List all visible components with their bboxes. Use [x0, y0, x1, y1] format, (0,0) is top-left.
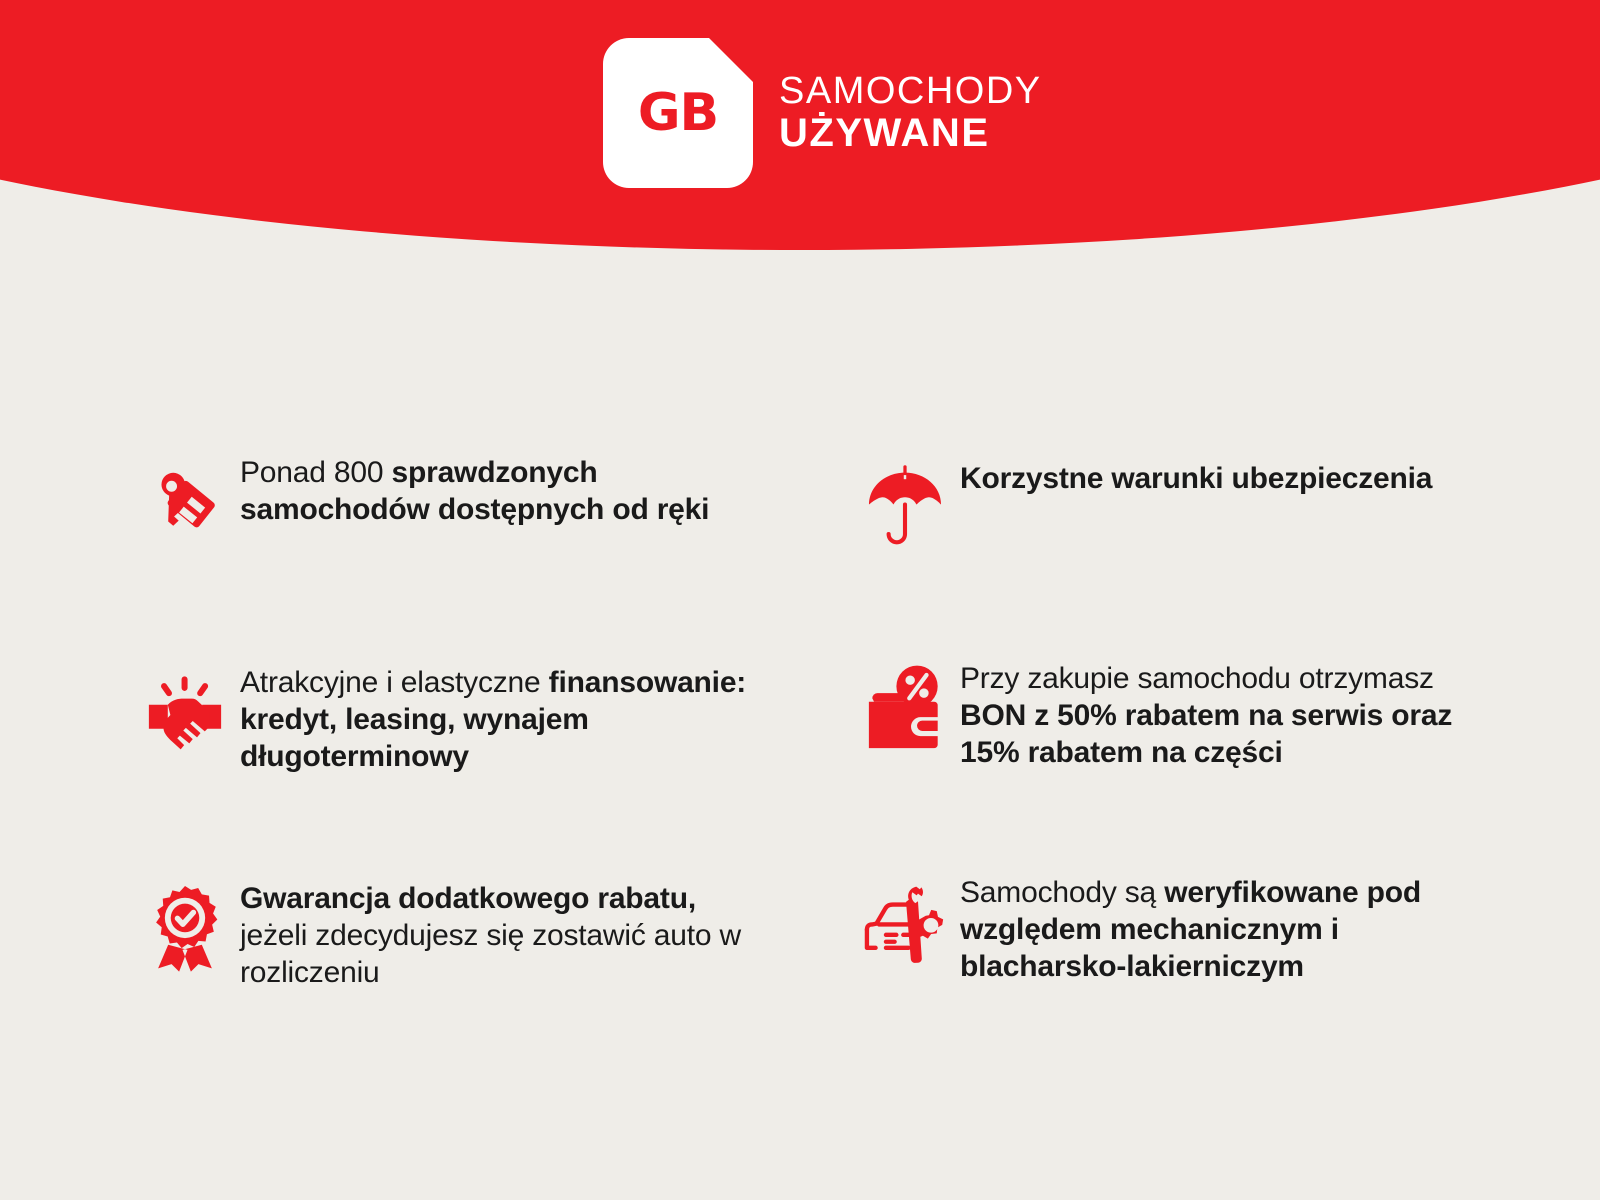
award-badge-icon — [130, 878, 240, 974]
feature-text-regular: Przy zakupie samochodu otrzymasz — [960, 662, 1434, 695]
feature-text-regular: jeżeli zdecydujesz się zostawić auto w r… — [240, 919, 741, 989]
feature-text-bold: Korzystne warunki ubezpieczenia — [960, 462, 1432, 495]
feature-text-regular: Ponad 800 — [240, 456, 391, 489]
feature-item-voucher: Przy zakupie samochodu otrzymasz BON z 5… — [850, 658, 1490, 778]
features-column-left: Ponad 800 sprawdzonych samochodów dostęp… — [130, 430, 850, 1042]
feature-text: Samochody są weryfikowane pod względem m… — [960, 872, 1490, 985]
features-grid: Ponad 800 sprawdzonych samochodów dostęp… — [0, 430, 1600, 1042]
logo-wordmark-line1: SAMOCHODY — [779, 72, 1042, 112]
feature-text-bold: Gwarancja dodatkowego rabatu, — [240, 882, 696, 915]
handshake-icon — [130, 662, 240, 752]
features-column-right: Korzystne warunki ubezpieczenia — [850, 430, 1570, 1042]
feature-item-keys: Ponad 800 sprawdzonych samochodów dostęp… — [130, 452, 770, 572]
feature-text: Atrakcyjne i elastyczne finansowanie: kr… — [240, 662, 770, 775]
logo-wordmark: SAMOCHODY UŻYWANE — [779, 72, 1042, 154]
logo-mark-icon: GB — [603, 38, 753, 188]
feature-text: Ponad 800 sprawdzonych samochodów dostęp… — [240, 452, 770, 528]
logo-corner-notch — [708, 37, 754, 83]
feature-text-regular: Atrakcyjne i elastyczne — [240, 666, 549, 699]
feature-item-insurance: Korzystne warunki ubezpieczenia — [850, 458, 1490, 578]
header-banner: GB SAMOCHODY UŻYWANE — [0, 0, 1600, 250]
feature-text-bold: BON z 50% rabatem na serwis oraz 15% rab… — [960, 699, 1452, 769]
wallet-percent-icon — [850, 658, 960, 750]
umbrella-icon — [850, 458, 960, 548]
keys-icon — [130, 452, 240, 540]
feature-text: Przy zakupie samochodu otrzymasz BON z 5… — [960, 658, 1490, 771]
feature-item-guarantee: Gwarancja dodatkowego rabatu, jeżeli zde… — [130, 878, 770, 998]
feature-text: Gwarancja dodatkowego rabatu, jeżeli zde… — [240, 878, 770, 991]
brand-logo[interactable]: GB SAMOCHODY UŻYWANE — [603, 38, 1042, 188]
feature-text: Korzystne warunki ubezpieczenia — [960, 458, 1432, 497]
car-wrench-gear-icon — [850, 872, 960, 966]
feature-item-financing: Atrakcyjne i elastyczne finansowanie: kr… — [130, 662, 770, 782]
logo-wordmark-line2: UŻYWANE — [779, 112, 1042, 154]
logo-mark-text: GB — [603, 86, 753, 140]
feature-text-regular: Samochody są — [960, 876, 1164, 909]
feature-item-verification: Samochody są weryfikowane pod względem m… — [850, 872, 1490, 992]
